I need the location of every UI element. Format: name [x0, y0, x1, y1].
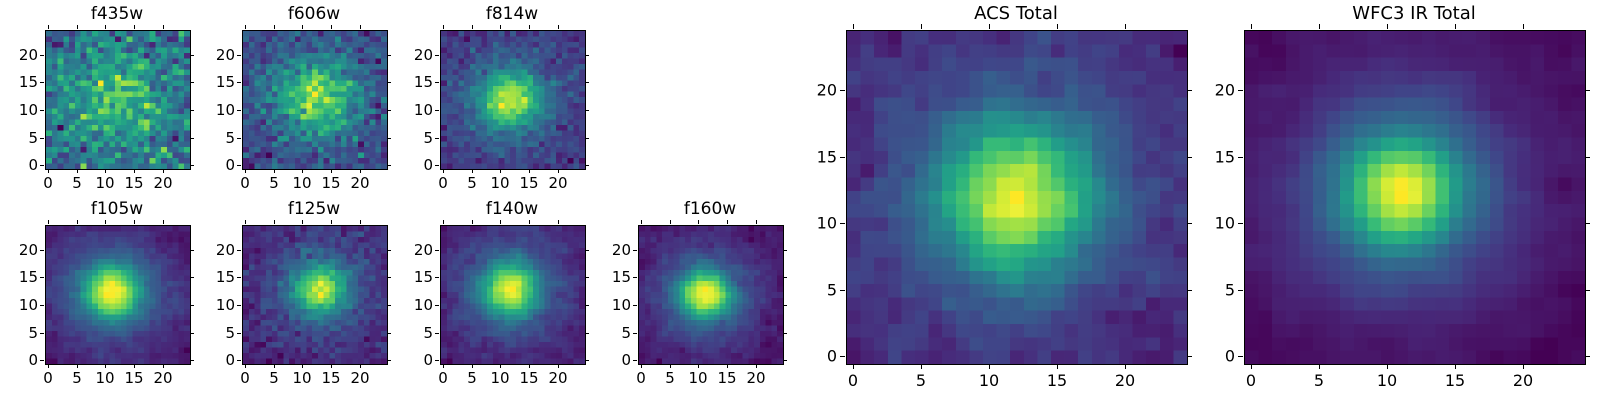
xtick-acs-total-20	[1125, 364, 1126, 369]
xtick-top-f140w-20	[558, 220, 559, 224]
panel-f105w: f105w0510152005101520	[0, 0, 1600, 400]
ytick-right-f125w-15	[387, 277, 391, 278]
panel-title-f125w: f125w	[242, 199, 386, 219]
panel-title-wfc3-ir-total: WFC3 IR Total	[1244, 3, 1584, 24]
ytick-right-wfc3-ir-total-10	[1585, 223, 1590, 224]
xtick-label-f435w-20: 20	[153, 174, 172, 192]
ytick-f160w-10	[633, 305, 637, 306]
ytick-right-f160w-10	[783, 305, 787, 306]
panel-f814w: f814w0510152005101520	[0, 0, 1600, 400]
ytick-label-f125w-20: 20	[216, 241, 235, 259]
ytick-wfc3-ir-total-15	[1238, 157, 1243, 158]
ytick-label-wfc3-ir-total-10: 10	[1215, 214, 1235, 233]
xtick-label-acs-total-10: 10	[979, 371, 999, 390]
xtick-f435w-5	[77, 169, 78, 173]
ytick-label-wfc3-ir-total-0: 0	[1225, 347, 1235, 366]
xtick-label-f105w-15: 15	[124, 369, 143, 387]
ytick-wfc3-ir-total-5	[1238, 290, 1243, 291]
ytick-f160w-15	[633, 277, 637, 278]
ytick-label-f105w-20: 20	[19, 241, 38, 259]
ytick-right-f105w-10	[190, 305, 194, 306]
ytick-label-f606w-15: 15	[216, 73, 235, 91]
ytick-label-f435w-15: 15	[19, 73, 38, 91]
ytick-right-f435w-5	[190, 138, 194, 139]
xtick-label-f435w-15: 15	[124, 174, 143, 192]
xtick-top-f160w-10	[698, 220, 699, 224]
xtick-label-f160w-0: 0	[636, 369, 646, 387]
xtick-top-acs-total-15	[1057, 24, 1058, 29]
xtick-label-wfc3-ir-total-0: 0	[1246, 371, 1256, 390]
ytick-label-f140w-20: 20	[414, 241, 433, 259]
ytick-right-f435w-20	[190, 55, 194, 56]
panel-f140w: f140w0510152005101520	[0, 0, 1600, 400]
ytick-right-f140w-15	[585, 277, 589, 278]
ytick-label-f814w-5: 5	[423, 129, 433, 147]
xtick-top-f105w-10	[105, 220, 106, 224]
xtick-f140w-15	[529, 364, 530, 368]
xtick-f435w-15	[134, 169, 135, 173]
xtick-acs-total-15	[1057, 364, 1058, 369]
ytick-right-f435w-10	[190, 110, 194, 111]
ytick-right-f125w-20	[387, 250, 391, 251]
ytick-right-wfc3-ir-total-15	[1585, 157, 1590, 158]
ytick-label-f105w-15: 15	[19, 268, 38, 286]
xtick-top-f606w-5	[274, 25, 275, 29]
ytick-label-f606w-0: 0	[225, 156, 235, 174]
ytick-right-wfc3-ir-total-0	[1585, 356, 1590, 357]
ytick-f435w-20	[40, 55, 44, 56]
xtick-label-f814w-5: 5	[467, 174, 477, 192]
ytick-label-f160w-15: 15	[612, 268, 631, 286]
xtick-top-f140w-5	[472, 220, 473, 224]
ytick-f435w-10	[40, 110, 44, 111]
xtick-label-f140w-20: 20	[548, 369, 567, 387]
xtick-label-wfc3-ir-total-10: 10	[1377, 371, 1397, 390]
ytick-label-f140w-0: 0	[423, 351, 433, 369]
ytick-f125w-0	[237, 360, 241, 361]
ytick-right-f814w-0	[585, 165, 589, 166]
ytick-label-f105w-10: 10	[19, 296, 38, 314]
xtick-top-f814w-20	[558, 25, 559, 29]
ytick-label-f606w-5: 5	[225, 129, 235, 147]
xtick-f435w-20	[163, 169, 164, 173]
xtick-top-wfc3-ir-total-10	[1387, 24, 1388, 29]
xtick-f814w-15	[529, 169, 530, 173]
ytick-label-acs-total-20: 20	[817, 81, 837, 100]
axes-f160w	[638, 225, 784, 365]
ytick-wfc3-ir-total-20	[1238, 90, 1243, 91]
panel-wfc3-ir-total: WFC3 IR Total0510152005101520	[0, 0, 1600, 400]
ytick-label-acs-total-15: 15	[817, 148, 837, 167]
ytick-right-f140w-5	[585, 333, 589, 334]
xtick-acs-total-5	[921, 364, 922, 369]
heatmap-image-f160w	[639, 226, 783, 364]
xtick-f606w-5	[274, 169, 275, 173]
xtick-acs-total-10	[989, 364, 990, 369]
ytick-label-acs-total-5: 5	[827, 281, 837, 300]
xtick-top-f435w-0	[48, 25, 49, 29]
xtick-label-acs-total-0: 0	[848, 371, 858, 390]
xtick-f160w-15	[727, 364, 728, 368]
ytick-label-f125w-0: 0	[225, 351, 235, 369]
ytick-right-f435w-15	[190, 82, 194, 83]
ytick-f435w-15	[40, 82, 44, 83]
ytick-f606w-0	[237, 165, 241, 166]
xtick-top-f125w-15	[331, 220, 332, 224]
xtick-top-f435w-20	[163, 25, 164, 29]
axes-wfc3-ir-total	[1244, 30, 1586, 365]
ytick-f814w-15	[435, 82, 439, 83]
xtick-label-f140w-0: 0	[438, 369, 448, 387]
xtick-label-f140w-5: 5	[467, 369, 477, 387]
axes-f140w	[440, 225, 586, 365]
xtick-label-f125w-20: 20	[350, 369, 369, 387]
xtick-label-f435w-10: 10	[95, 174, 114, 192]
xtick-f606w-15	[331, 169, 332, 173]
xtick-top-f140w-15	[529, 220, 530, 224]
xtick-label-f606w-5: 5	[269, 174, 279, 192]
xtick-top-f814w-15	[529, 25, 530, 29]
ytick-right-acs-total-20	[1187, 90, 1192, 91]
xtick-f125w-10	[302, 364, 303, 368]
xtick-f105w-0	[48, 364, 49, 368]
ytick-right-f160w-15	[783, 277, 787, 278]
ytick-f125w-5	[237, 333, 241, 334]
xtick-f160w-20	[756, 364, 757, 368]
xtick-top-acs-total-10	[989, 24, 990, 29]
ytick-right-f606w-10	[387, 110, 391, 111]
xtick-f435w-10	[105, 169, 106, 173]
xtick-f814w-5	[472, 169, 473, 173]
ytick-label-f140w-5: 5	[423, 324, 433, 342]
ytick-f125w-10	[237, 305, 241, 306]
ytick-label-f125w-15: 15	[216, 268, 235, 286]
xtick-f125w-20	[360, 364, 361, 368]
ytick-label-acs-total-10: 10	[817, 214, 837, 233]
xtick-f105w-10	[105, 364, 106, 368]
xtick-top-f125w-10	[302, 220, 303, 224]
xtick-top-acs-total-5	[921, 24, 922, 29]
xtick-label-f125w-15: 15	[321, 369, 340, 387]
xtick-top-f814w-5	[472, 25, 473, 29]
xtick-f140w-20	[558, 364, 559, 368]
heatmap-image-f435w	[46, 31, 190, 169]
ytick-acs-total-5	[840, 290, 845, 291]
xtick-f606w-20	[360, 169, 361, 173]
xtick-f140w-5	[472, 364, 473, 368]
xtick-top-f105w-20	[163, 220, 164, 224]
ytick-label-f435w-20: 20	[19, 46, 38, 64]
xtick-top-f435w-5	[77, 25, 78, 29]
ytick-label-wfc3-ir-total-20: 20	[1215, 81, 1235, 100]
ytick-label-f160w-10: 10	[612, 296, 631, 314]
ytick-acs-total-20	[840, 90, 845, 91]
ytick-acs-total-0	[840, 356, 845, 357]
xtick-top-f125w-5	[274, 220, 275, 224]
ytick-right-f814w-15	[585, 82, 589, 83]
ytick-label-f140w-10: 10	[414, 296, 433, 314]
xtick-top-f125w-0	[245, 220, 246, 224]
ytick-wfc3-ir-total-0	[1238, 356, 1243, 357]
ytick-right-acs-total-10	[1187, 223, 1192, 224]
ytick-label-f125w-10: 10	[216, 296, 235, 314]
heatmap-image-f814w	[441, 31, 585, 169]
ytick-right-f606w-0	[387, 165, 391, 166]
ytick-right-f606w-5	[387, 138, 391, 139]
xtick-f125w-0	[245, 364, 246, 368]
heatmap-image-acs-total	[847, 31, 1187, 364]
ytick-f606w-5	[237, 138, 241, 139]
ytick-right-f814w-5	[585, 138, 589, 139]
xtick-wfc3-ir-total-5	[1319, 364, 1320, 369]
ytick-right-f105w-15	[190, 277, 194, 278]
panel-title-f160w: f160w	[638, 199, 782, 219]
xtick-top-f125w-20	[360, 220, 361, 224]
ytick-f814w-5	[435, 138, 439, 139]
xtick-label-f814w-0: 0	[438, 174, 448, 192]
ytick-label-f160w-20: 20	[612, 241, 631, 259]
ytick-f814w-20	[435, 55, 439, 56]
xtick-label-f606w-15: 15	[321, 174, 340, 192]
ytick-label-wfc3-ir-total-5: 5	[1225, 281, 1235, 300]
ytick-label-f140w-15: 15	[414, 268, 433, 286]
ytick-f140w-5	[435, 333, 439, 334]
ytick-label-f105w-0: 0	[28, 351, 38, 369]
ytick-label-f814w-10: 10	[414, 101, 433, 119]
ytick-right-f105w-0	[190, 360, 194, 361]
xtick-wfc3-ir-total-10	[1387, 364, 1388, 369]
xtick-label-f814w-20: 20	[548, 174, 567, 192]
xtick-f606w-10	[302, 169, 303, 173]
ytick-label-f105w-5: 5	[28, 324, 38, 342]
xtick-wfc3-ir-total-0	[1251, 364, 1252, 369]
xtick-f140w-0	[443, 364, 444, 368]
xtick-label-acs-total-15: 15	[1047, 371, 1067, 390]
ytick-right-f160w-20	[783, 250, 787, 251]
xtick-label-f160w-20: 20	[746, 369, 765, 387]
xtick-label-f140w-10: 10	[490, 369, 509, 387]
xtick-f105w-5	[77, 364, 78, 368]
ytick-label-f606w-20: 20	[216, 46, 235, 64]
xtick-top-f140w-10	[500, 220, 501, 224]
xtick-f814w-10	[500, 169, 501, 173]
ytick-f105w-15	[40, 277, 44, 278]
ytick-label-f814w-20: 20	[414, 46, 433, 64]
xtick-label-acs-total-20: 20	[1115, 371, 1135, 390]
ytick-label-f160w-5: 5	[621, 324, 631, 342]
panel-title-acs-total: ACS Total	[846, 3, 1186, 24]
xtick-label-f606w-0: 0	[240, 174, 250, 192]
xtick-label-wfc3-ir-total-5: 5	[1314, 371, 1324, 390]
xtick-f606w-0	[245, 169, 246, 173]
xtick-label-wfc3-ir-total-20: 20	[1513, 371, 1533, 390]
ytick-label-acs-total-0: 0	[827, 347, 837, 366]
xtick-top-f140w-0	[443, 220, 444, 224]
xtick-f814w-0	[443, 169, 444, 173]
xtick-top-wfc3-ir-total-20	[1523, 24, 1524, 29]
ytick-right-f435w-0	[190, 165, 194, 166]
ytick-label-f814w-15: 15	[414, 73, 433, 91]
xtick-label-f105w-20: 20	[153, 369, 172, 387]
ytick-right-acs-total-5	[1187, 290, 1192, 291]
ytick-f160w-0	[633, 360, 637, 361]
xtick-label-f160w-10: 10	[688, 369, 707, 387]
ytick-f160w-20	[633, 250, 637, 251]
ytick-right-acs-total-0	[1187, 356, 1192, 357]
xtick-top-f105w-15	[134, 220, 135, 224]
ytick-label-f814w-0: 0	[423, 156, 433, 174]
ytick-f125w-20	[237, 250, 241, 251]
xtick-top-acs-total-20	[1125, 24, 1126, 29]
ytick-right-f814w-10	[585, 110, 589, 111]
panel-acs-total: ACS Total0510152005101520	[0, 0, 1600, 400]
ytick-right-wfc3-ir-total-20	[1585, 90, 1590, 91]
ytick-right-f160w-5	[783, 333, 787, 334]
ytick-right-f105w-20	[190, 250, 194, 251]
ytick-f105w-0	[40, 360, 44, 361]
xtick-wfc3-ir-total-20	[1523, 364, 1524, 369]
ytick-right-f140w-10	[585, 305, 589, 306]
xtick-top-f435w-15	[134, 25, 135, 29]
xtick-label-f160w-5: 5	[665, 369, 675, 387]
ytick-f140w-15	[435, 277, 439, 278]
ytick-right-f125w-5	[387, 333, 391, 334]
xtick-f814w-20	[558, 169, 559, 173]
xtick-top-f606w-15	[331, 25, 332, 29]
xtick-top-f606w-10	[302, 25, 303, 29]
panel-title-f606w: f606w	[242, 4, 386, 24]
xtick-top-wfc3-ir-total-15	[1455, 24, 1456, 29]
xtick-label-f606w-20: 20	[350, 174, 369, 192]
xtick-f125w-15	[331, 364, 332, 368]
ytick-acs-total-15	[840, 157, 845, 158]
xtick-f160w-10	[698, 364, 699, 368]
axes-f606w	[242, 30, 388, 170]
ytick-wfc3-ir-total-10	[1238, 223, 1243, 224]
panel-title-f140w: f140w	[440, 199, 584, 219]
ytick-right-f606w-20	[387, 55, 391, 56]
panel-f125w: f125w0510152005101520	[0, 0, 1600, 400]
xtick-f105w-20	[163, 364, 164, 368]
xtick-top-f160w-0	[641, 220, 642, 224]
xtick-label-f125w-0: 0	[240, 369, 250, 387]
xtick-top-f435w-10	[105, 25, 106, 29]
xtick-label-wfc3-ir-total-15: 15	[1445, 371, 1465, 390]
ytick-label-f435w-0: 0	[28, 156, 38, 174]
ytick-f160w-5	[633, 333, 637, 334]
ytick-label-f606w-10: 10	[216, 101, 235, 119]
xtick-top-f160w-20	[756, 220, 757, 224]
xtick-top-f160w-5	[670, 220, 671, 224]
ytick-f606w-10	[237, 110, 241, 111]
axes-f435w	[45, 30, 191, 170]
heatmap-image-f606w	[243, 31, 387, 169]
xtick-label-f140w-15: 15	[519, 369, 538, 387]
ytick-f435w-5	[40, 138, 44, 139]
xtick-label-f814w-10: 10	[490, 174, 509, 192]
xtick-label-f435w-0: 0	[43, 174, 53, 192]
ytick-f814w-10	[435, 110, 439, 111]
panel-f435w: f435w0510152005101520	[0, 0, 1600, 400]
panel-title-f435w: f435w	[45, 4, 189, 24]
panel-f160w: f160w0510152005101520	[0, 0, 1600, 400]
ytick-f435w-0	[40, 165, 44, 166]
ytick-right-f814w-20	[585, 55, 589, 56]
heatmap-image-f140w	[441, 226, 585, 364]
xtick-acs-total-0	[853, 364, 854, 369]
ytick-f606w-20	[237, 55, 241, 56]
xtick-top-f105w-0	[48, 220, 49, 224]
xtick-label-f160w-15: 15	[717, 369, 736, 387]
xtick-label-f125w-5: 5	[269, 369, 279, 387]
heatmap-image-f125w	[243, 226, 387, 364]
xtick-f105w-15	[134, 364, 135, 368]
ytick-right-wfc3-ir-total-5	[1585, 290, 1590, 291]
xtick-f160w-0	[641, 364, 642, 368]
xtick-top-acs-total-0	[853, 24, 854, 29]
xtick-top-f160w-15	[727, 220, 728, 224]
xtick-label-f105w-0: 0	[43, 369, 53, 387]
xtick-label-acs-total-5: 5	[916, 371, 926, 390]
ytick-label-f435w-10: 10	[19, 101, 38, 119]
ytick-f105w-20	[40, 250, 44, 251]
ytick-right-f140w-20	[585, 250, 589, 251]
xtick-top-wfc3-ir-total-5	[1319, 24, 1320, 29]
ytick-acs-total-10	[840, 223, 845, 224]
xtick-top-wfc3-ir-total-0	[1251, 24, 1252, 29]
xtick-top-f606w-0	[245, 25, 246, 29]
ytick-label-f160w-0: 0	[621, 351, 631, 369]
ytick-f105w-10	[40, 305, 44, 306]
xtick-label-f125w-10: 10	[292, 369, 311, 387]
xtick-f140w-10	[500, 364, 501, 368]
axes-f125w	[242, 225, 388, 365]
ytick-right-acs-total-15	[1187, 157, 1192, 158]
ytick-f105w-5	[40, 333, 44, 334]
xtick-top-f606w-20	[360, 25, 361, 29]
xtick-label-f105w-5: 5	[72, 369, 82, 387]
xtick-top-f105w-5	[77, 220, 78, 224]
ytick-label-f435w-5: 5	[28, 129, 38, 147]
panel-title-f105w: f105w	[45, 199, 189, 219]
axes-f814w	[440, 30, 586, 170]
xtick-f125w-5	[274, 364, 275, 368]
ytick-f140w-10	[435, 305, 439, 306]
axes-f105w	[45, 225, 191, 365]
xtick-f435w-0	[48, 169, 49, 173]
heatmap-image-f105w	[46, 226, 190, 364]
ytick-f140w-20	[435, 250, 439, 251]
figure-canvas: f435w0510152005101520f606w05101520051015…	[0, 0, 1600, 400]
xtick-label-f105w-10: 10	[95, 369, 114, 387]
xtick-label-f435w-5: 5	[72, 174, 82, 192]
xtick-wfc3-ir-total-15	[1455, 364, 1456, 369]
ytick-label-wfc3-ir-total-15: 15	[1215, 148, 1235, 167]
ytick-f125w-15	[237, 277, 241, 278]
ytick-f140w-0	[435, 360, 439, 361]
xtick-f160w-5	[670, 364, 671, 368]
xtick-label-f814w-15: 15	[519, 174, 538, 192]
ytick-right-f105w-5	[190, 333, 194, 334]
panel-f606w: f606w0510152005101520	[0, 0, 1600, 400]
ytick-f814w-0	[435, 165, 439, 166]
heatmap-image-wfc3-ir-total	[1245, 31, 1585, 364]
ytick-right-f125w-0	[387, 360, 391, 361]
axes-acs-total	[846, 30, 1188, 365]
ytick-right-f160w-0	[783, 360, 787, 361]
ytick-right-f606w-15	[387, 82, 391, 83]
ytick-f606w-15	[237, 82, 241, 83]
